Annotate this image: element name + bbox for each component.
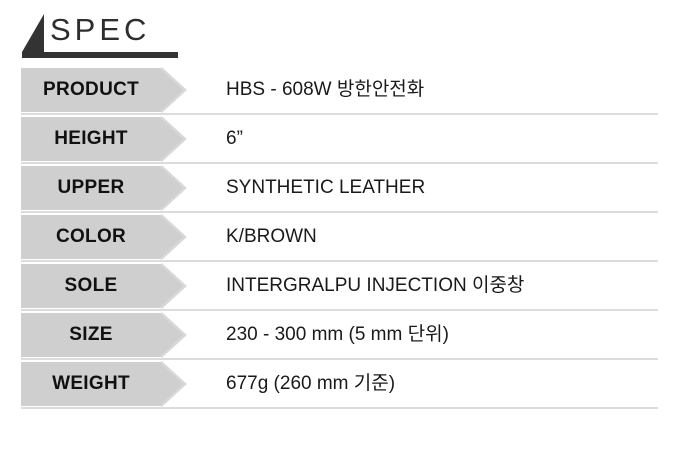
table-row: UPPER SYNTHETIC LEATHER — [0, 166, 676, 210]
spec-label: COLOR — [21, 215, 161, 259]
chevron-right-icon — [158, 212, 214, 262]
table-row: SIZE 230 - 300 mm (5 mm 단위) — [0, 313, 676, 357]
chevron-right-icon — [158, 163, 214, 213]
row-divider — [21, 211, 658, 213]
table-row: SOLE INTERGRALPU INJECTION 이중창 — [0, 264, 676, 308]
table-row: COLOR K/BROWN — [0, 215, 676, 259]
spec-value: SYNTHETIC LEATHER — [226, 166, 425, 210]
spec-label: SIZE — [21, 313, 161, 357]
row-divider — [21, 162, 658, 164]
spec-label: UPPER — [21, 166, 161, 210]
spec-label: HEIGHT — [21, 117, 161, 161]
spec-table: PRODUCT HBS - 608W 방한안전화 HEIGHT 6” UPPER… — [0, 68, 676, 411]
spec-label: SOLE — [21, 264, 161, 308]
row-divider — [21, 260, 658, 262]
spec-value: 6” — [226, 117, 243, 161]
spec-value: K/BROWN — [226, 215, 317, 259]
row-divider — [21, 407, 658, 409]
row-divider — [21, 309, 658, 311]
table-row: PRODUCT HBS - 608W 방한안전화 — [0, 68, 676, 112]
page-title: SPEC — [50, 10, 150, 50]
spec-value: 677g (260 mm 기준) — [226, 362, 395, 406]
chevron-right-icon — [158, 65, 214, 115]
spec-triangle-icon — [22, 14, 44, 52]
spec-value: HBS - 608W 방한안전화 — [226, 68, 424, 112]
spec-value: INTERGRALPU INJECTION 이중창 — [226, 264, 524, 308]
table-row: HEIGHT 6” — [0, 117, 676, 161]
chevron-right-icon — [158, 114, 214, 164]
row-divider — [21, 358, 658, 360]
table-row: WEIGHT 677g (260 mm 기준) — [0, 362, 676, 406]
chevron-right-icon — [158, 359, 214, 409]
spec-value: 230 - 300 mm (5 mm 단위) — [226, 313, 449, 357]
chevron-right-icon — [158, 261, 214, 311]
spec-header: SPEC — [20, 8, 240, 60]
chevron-right-icon — [158, 310, 214, 360]
spec-underline — [22, 52, 178, 58]
spec-label: PRODUCT — [21, 68, 161, 112]
row-divider — [21, 113, 658, 115]
spec-label: WEIGHT — [21, 362, 161, 406]
